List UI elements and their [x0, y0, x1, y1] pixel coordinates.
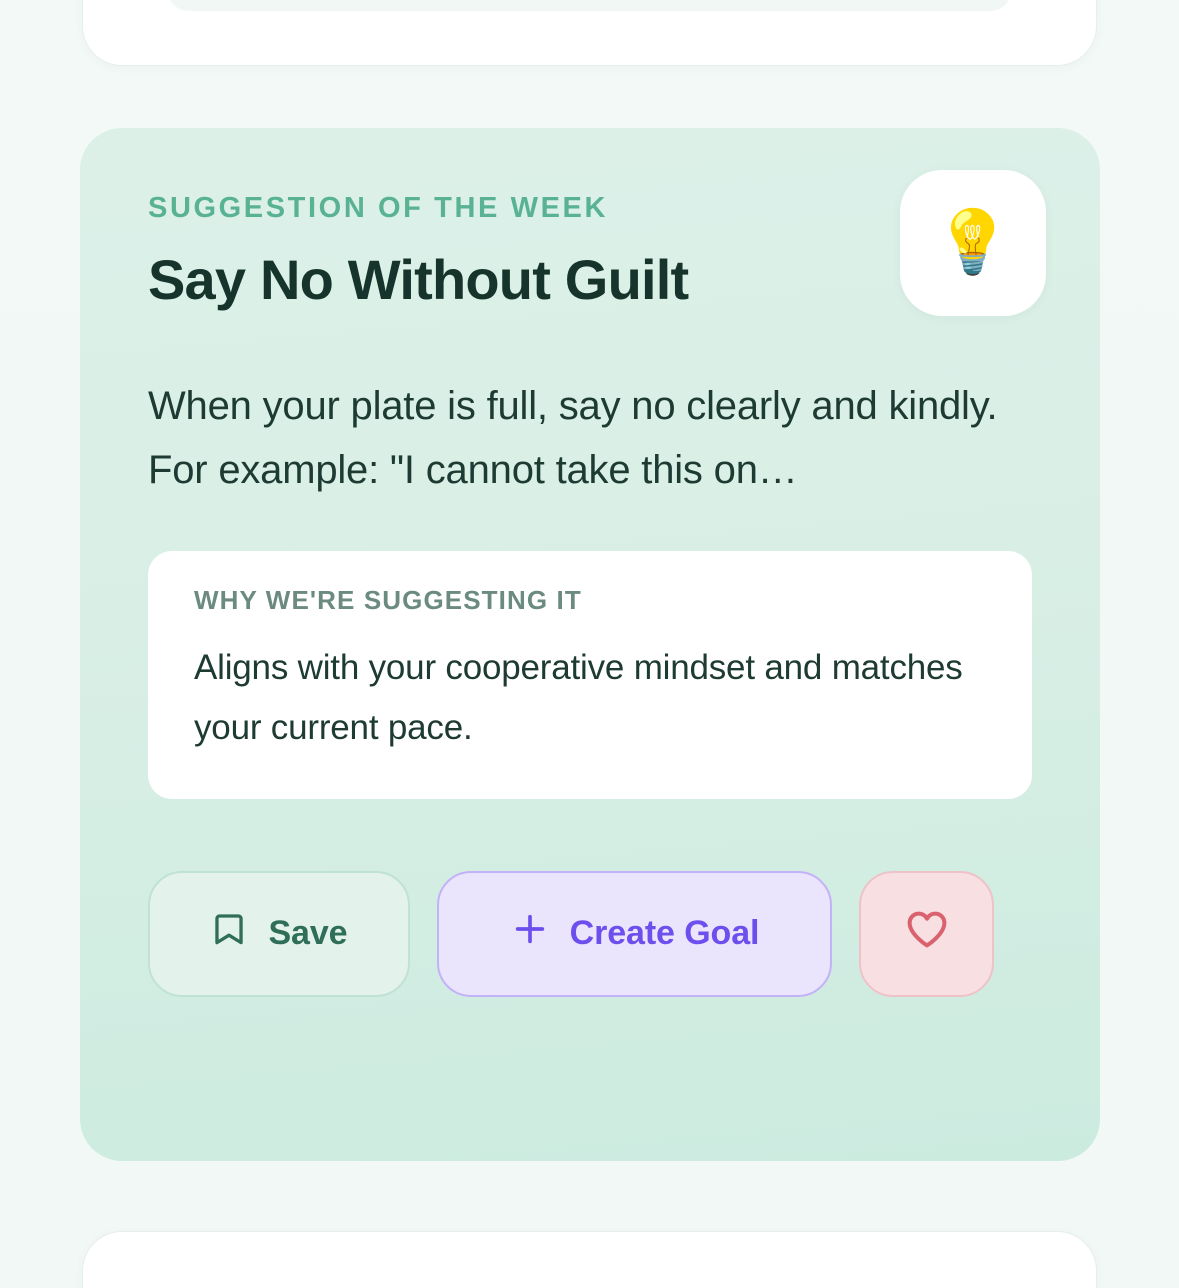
bookmark-icon: [210, 908, 248, 959]
previous-card-partial[interactable]: [82, 0, 1097, 66]
suggestion-of-the-week-card[interactable]: SUGGESTION OF THE WEEK Say No Without Gu…: [80, 128, 1100, 1161]
lightbulb-icon: 💡: [934, 212, 1011, 274]
suggestion-feed-screen: SUGGESTION OF THE WEEK Say No Without Gu…: [0, 0, 1179, 1288]
reason-card: WHY WE'RE SUGGESTING IT Aligns with your…: [148, 551, 1032, 798]
reason-label: WHY WE'RE SUGGESTING IT: [194, 587, 986, 613]
create-goal-button-label: Create Goal: [570, 914, 760, 953]
card-actions: Save Create Goal: [148, 871, 1100, 997]
plus-icon: [510, 909, 550, 958]
card-header: SUGGESTION OF THE WEEK Say No Without Gu…: [80, 194, 1100, 311]
suggestion-description: When your plate is full, say no clearly …: [148, 374, 1032, 504]
save-button-label: Save: [268, 914, 347, 953]
create-goal-button[interactable]: Create Goal: [437, 871, 832, 997]
save-button[interactable]: Save: [148, 871, 410, 997]
reason-text: Aligns with your cooperative mindset and…: [194, 638, 986, 758]
like-button[interactable]: [859, 871, 994, 997]
previous-card-inner-block: [167, 0, 1012, 11]
heart-icon: [904, 908, 950, 959]
next-card-partial[interactable]: [82, 1231, 1097, 1288]
lightbulb-badge: 💡: [900, 170, 1046, 316]
